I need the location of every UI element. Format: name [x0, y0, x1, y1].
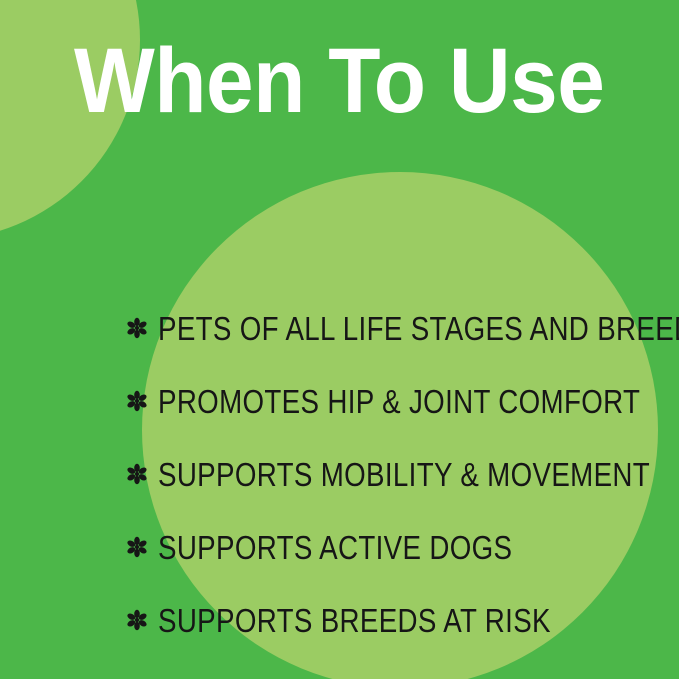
list-item: PETS OF ALL LIFE STAGES AND BREEDS — [126, 306, 666, 350]
list-item: SUPPORTS MOBILITY & MOVEMENT — [126, 452, 666, 496]
benefit-label: SUPPORTS BREEDS AT RISK — [158, 604, 551, 637]
list-item: SUPPORTS BREEDS AT RISK — [126, 598, 666, 642]
benefit-label: PETS OF ALL LIFE STAGES AND BREEDS — [158, 312, 679, 345]
benefit-label: SUPPORTS ACTIVE DOGS — [158, 531, 512, 564]
benefit-label: SUPPORTS MOBILITY & MOVEMENT — [158, 458, 650, 491]
list-item: SUPPORTS ACTIVE DOGS — [126, 525, 666, 569]
flower-asterisk-bullet-icon — [126, 609, 148, 631]
benefit-label: PROMOTES HIP & JOINT COMFORT — [158, 385, 640, 418]
list-item: PROMOTES HIP & JOINT COMFORT — [126, 379, 666, 423]
flower-asterisk-bullet-icon — [126, 463, 148, 485]
flower-asterisk-bullet-icon — [126, 536, 148, 558]
benefits-list: PETS OF ALL LIFE STAGES AND BREEDS PRO — [126, 306, 666, 642]
flower-asterisk-bullet-icon — [126, 317, 148, 339]
flower-asterisk-bullet-icon — [126, 390, 148, 412]
when-to-use-infographic: When To Use PETS OF ALL LIFE STAG — [0, 0, 679, 679]
